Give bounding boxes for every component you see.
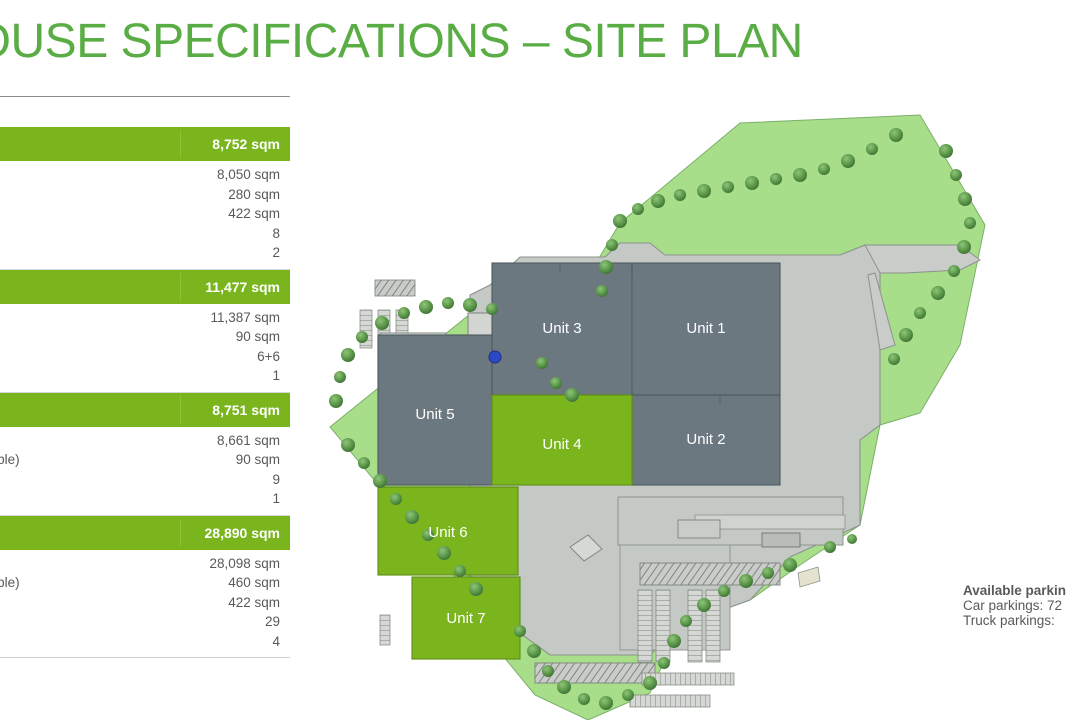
available-header: vailable	[0, 97, 290, 127]
group-total-value: 8,751 sqm	[212, 393, 280, 427]
group-header-bar[interactable]: 28,890 sqm	[0, 516, 290, 550]
group-header-bar[interactable]: 8,752 sqm	[0, 127, 290, 161]
row-label: head doors	[0, 634, 272, 649]
spec-group: 11,477 sqm 11,387 sqm 90 sqm 6+6 head do…	[0, 270, 290, 393]
row-value: 6+6	[257, 349, 290, 364]
specifications-table: vailable 8,752 sqm 8,050 sqm 280 sqm 422…	[0, 96, 290, 658]
row-label: office creation possible)	[0, 452, 236, 467]
group-rows: 11,387 sqm 90 sqm 6+6 head door 1	[0, 309, 290, 388]
row-value: 8,050 sqm	[217, 167, 290, 182]
row-label: head doors	[0, 245, 272, 260]
row-value: 1	[272, 368, 290, 383]
row-value: 28,098 sqm	[209, 556, 290, 571]
group-header-bar[interactable]: 8,751 sqm	[0, 393, 290, 427]
row-label: office creation possible)	[0, 575, 228, 590]
site-plan-map[interactable]: Unit 3 Unit 1 Unit 2 Unit 5 Unit 4 Unit …	[320, 95, 1020, 720]
unit-4-label: Unit 4	[542, 436, 581, 453]
table-row: 8,050 sqm	[0, 167, 290, 187]
row-value: 90 sqm	[236, 452, 290, 467]
table-row: 6+6	[0, 349, 290, 369]
table-row: 8,661 sqm	[0, 433, 290, 453]
bar-divider	[180, 396, 181, 424]
row-value: 8,661 sqm	[217, 433, 290, 448]
row-value: 29	[265, 614, 290, 629]
bar-divider	[180, 273, 181, 301]
row-value: 280 sqm	[228, 187, 290, 202]
spec-group: 8,752 sqm 8,050 sqm 280 sqm 422 sqm 8 he…	[0, 127, 290, 270]
table-row: 11,387 sqm	[0, 310, 290, 330]
row-value: 422 sqm	[228, 206, 290, 221]
unit-5-label: Unit 5	[415, 406, 454, 423]
group-rows: 28,098 sqm office creation possible) 460…	[0, 555, 290, 654]
table-row: 280 sqm	[0, 187, 290, 207]
group-header-bar[interactable]: 11,477 sqm	[0, 270, 290, 304]
unit-7-label: Unit 7	[446, 610, 485, 627]
page-title: EHOUSE SPECIFICATIONS – SITE PLAN	[0, 14, 803, 69]
table-bottom-rule	[0, 657, 290, 658]
unit-1-label: Unit 1	[686, 320, 725, 337]
row-value: 90 sqm	[236, 329, 290, 344]
row-label: head doors	[0, 491, 272, 506]
table-row: head door 1	[0, 368, 290, 388]
table-row: office creation possible) 460 sqm	[0, 575, 290, 595]
table-row: head doors 1	[0, 491, 290, 511]
table-row: 422 sqm	[0, 206, 290, 226]
table-row: 9	[0, 472, 290, 492]
table-row: head doors 4	[0, 634, 290, 654]
table-row: office creation possible) 90 sqm	[0, 452, 290, 472]
unit-2-label: Unit 2	[686, 431, 725, 448]
spec-group: 8,751 sqm 8,661 sqm office creation poss…	[0, 393, 290, 516]
row-value: 1	[272, 491, 290, 506]
table-row: 28,098 sqm	[0, 556, 290, 576]
bar-divider	[180, 130, 181, 158]
entrance-marker-icon[interactable]	[489, 351, 501, 363]
row-value: 422 sqm	[228, 595, 290, 610]
unit-6-label: Unit 6	[428, 524, 467, 541]
bar-divider	[180, 519, 181, 547]
table-row: 422 sqm	[0, 595, 290, 615]
table-row: head doors 2	[0, 245, 290, 265]
unit-3-label: Unit 3	[542, 320, 581, 337]
group-rows: 8,661 sqm office creation possible) 90 s…	[0, 432, 290, 511]
group-rows: 8,050 sqm 280 sqm 422 sqm 8 head doors 2	[0, 166, 290, 265]
table-row: 90 sqm	[0, 329, 290, 349]
row-value: 8	[272, 226, 290, 241]
row-value: 2	[272, 245, 290, 260]
row-value: 11,387 sqm	[210, 310, 290, 325]
group-total-value: 8,752 sqm	[212, 127, 280, 161]
group-total-value: 28,890 sqm	[205, 516, 281, 550]
spec-group: 28,890 sqm 28,098 sqm office creation po…	[0, 516, 290, 654]
row-label: head door	[0, 368, 272, 383]
table-row: 29	[0, 614, 290, 634]
row-value: 4	[272, 634, 290, 649]
group-total-value: 11,477 sqm	[205, 270, 280, 304]
row-value: 9	[272, 472, 290, 487]
table-row: 8	[0, 226, 290, 246]
row-value: 460 sqm	[228, 575, 290, 590]
